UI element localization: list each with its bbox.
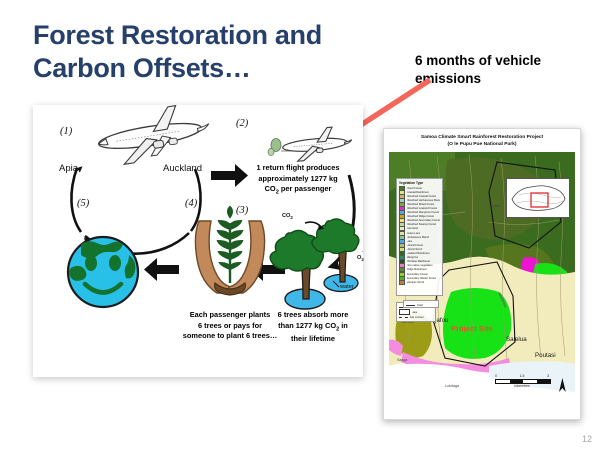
blurb-step2-line2: approximately 1277 kg: [236, 174, 360, 185]
city-label-auckland: Auckland: [163, 163, 202, 174]
legend-item-label: Disturbed Secondary Forest: [407, 219, 440, 222]
blurb-step4-line2: 6 trees or pays for: [159, 321, 301, 332]
legend-road-item: Road: [406, 303, 437, 308]
place-label-poutasi: Poutasi: [535, 352, 556, 359]
legend-item-label: Littoral Forest: [407, 244, 423, 247]
contour-line-icon: [399, 317, 408, 318]
place-label-taufusi: Taufusi: [489, 204, 500, 208]
map-legend-road: Road: [403, 300, 439, 308]
legend-item-label: Volcanic Scrub: [407, 281, 425, 284]
city-label-apia: Apia: [59, 163, 78, 174]
legend-item: Volcanic Scrub: [399, 280, 440, 284]
airplane-icon-1: [95, 105, 213, 168]
blurb-step4: Each passenger plants 6 trees or pays fo…: [159, 310, 301, 342]
legend-line-label: Lake: [412, 311, 418, 314]
map-inset-locator: [506, 178, 570, 218]
legend-item-label: Disturbed Ridge Forest: [407, 215, 435, 218]
legend-item-label: Secondary Wetter Forest: [407, 277, 437, 280]
legend-item-label: Montane Rainforest: [407, 260, 430, 263]
page-title-line1: Forest Restoration and: [33, 20, 322, 50]
legend-item-label: Littoral Scrub: [407, 248, 423, 251]
legend-line-label: Site contour: [410, 316, 424, 319]
map-body[interactable]: Vegetation Type Cloud Forest Coastal Rai…: [389, 152, 575, 414]
legend-item-label: Disturbed Herbaceous Marsh: [407, 199, 441, 202]
blurb-step2-line3: CO2 per passenger: [236, 184, 360, 197]
legend-item-label: Disturbed Mixed Forest: [407, 203, 435, 206]
water-label: water: [340, 284, 354, 290]
blurb-step4-line1: Each passenger plants: [159, 310, 301, 321]
legend-item-label: Ridge Rainforest: [407, 268, 427, 271]
map-card[interactable]: Samoa Climate Smart Rainforest Restorati…: [383, 128, 581, 420]
road-line-icon: [406, 305, 415, 306]
map-legend-vegetation: Vegetation Type Cloud Forest Coastal Rai…: [396, 178, 443, 296]
arrow-left-2: [144, 258, 179, 281]
lake-swatch-icon: [399, 309, 410, 315]
scale-units-label: kilometres: [495, 384, 549, 388]
place-label-saaga: Saaga: [397, 358, 407, 362]
slide-canvas: Forest Restoration and Carbon Offsets… 6…: [0, 0, 611, 458]
step-number-3: (3): [236, 205, 248, 216]
map-title: Samoa Climate Smart Rainforest Restorati…: [384, 134, 580, 148]
annotation-text: 6 months of vehicle emissions: [415, 52, 600, 88]
legend-swatch: [399, 280, 405, 285]
legend-item-label: Disturbed Coastal Forest: [407, 195, 437, 198]
scale-tick-2: 3: [547, 374, 549, 378]
cycle-diagram-card: (1) (2) (3) (4) (5) Apia Auckland 1 retu…: [33, 105, 363, 377]
legend-title: Vegetation Type: [399, 181, 440, 185]
legend-item-label: Non-native vegetation: [407, 264, 433, 267]
legend-item-label: Grass Land: [407, 232, 421, 235]
legend-item-label: Mangrove: [407, 256, 419, 259]
co2-in-label: CO2: [282, 213, 293, 220]
map-title-line1: Samoa Climate Smart Rainforest Restorati…: [384, 134, 580, 141]
scale-tick-0: 0: [495, 374, 497, 378]
scale-tick-labels: 0 1.5 3: [495, 374, 549, 378]
map-scale-bar: 0 1.5 3 kilometres: [495, 374, 551, 388]
legend-item-label: Disturbed Swamp Forest: [407, 223, 437, 226]
place-label-lotofaga: Lotofaga: [445, 384, 459, 388]
step-number-2: (2): [236, 118, 248, 129]
o2-out-label: O2: [357, 255, 364, 262]
earth-globe-icon: [68, 237, 138, 307]
step-number-4: (4): [185, 198, 197, 209]
legend-items-list: Cloud Forest Coastal Rainforest Disturbe…: [399, 186, 440, 284]
project-site-label: Project Site: [451, 324, 493, 333]
legend-line-item: Site contour: [399, 315, 434, 320]
blurb-step4-line3: someone to plant 6 trees…: [159, 331, 301, 342]
legend-item-label: Disturbed Mangrove Forest: [407, 211, 440, 214]
page-number: 12: [582, 434, 592, 444]
blurb-step2-line1: 1 return flight produces: [236, 163, 360, 174]
legend-item-label: Cloud Forest: [407, 187, 422, 190]
trees-icon: [270, 219, 363, 309]
blurb-step2: 1 return flight produces approximately 1…: [236, 163, 360, 197]
legend-item-label: Herbaceous Marsh: [407, 236, 430, 239]
step-number-5: (5): [77, 198, 89, 209]
scale-tick-1: 1.5: [520, 374, 525, 378]
hands-planting-icon: [195, 207, 264, 295]
legend-road-label: Road: [417, 304, 423, 307]
legend-item-label: Coastal Rainforest: [407, 191, 429, 194]
inset-island-shape: [507, 179, 569, 217]
legend-item-label: Secondary Forest: [407, 273, 428, 276]
airplane-icon-2: [281, 125, 353, 162]
step-number-1: (1): [60, 126, 72, 137]
legend-item-label: Disturbed Lowland Forest: [407, 207, 438, 210]
place-label-salelua: Salelua: [506, 336, 527, 343]
legend-item-label: Lowland Rainforest: [407, 252, 430, 255]
scale-bar-graphic: [495, 379, 551, 384]
map-title-line2: (O le Pupu Pue National Park): [384, 141, 580, 148]
legend-item-label: Farmland: [407, 227, 418, 230]
legend-item-label: Lake: [407, 240, 413, 243]
